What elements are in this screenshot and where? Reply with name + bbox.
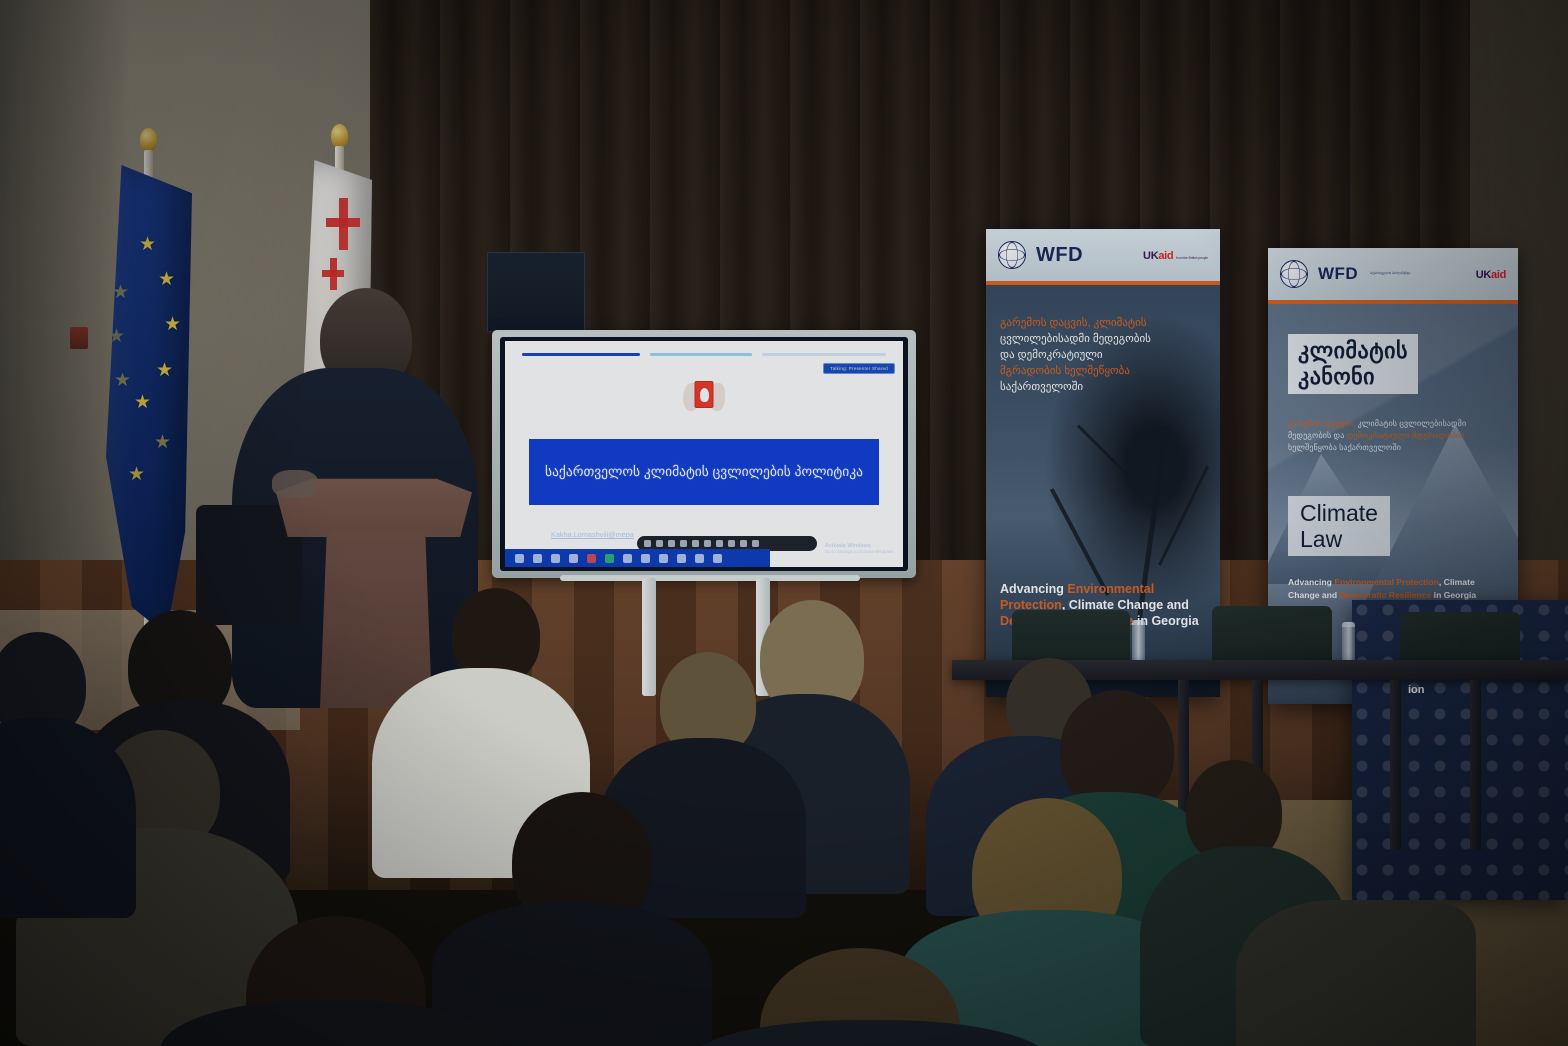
banner1-logo-strip: WFD UKaid from the British people: [986, 229, 1220, 281]
georgian-parliament-logo: საქართველოს პარლამენტი: [1368, 261, 1412, 287]
banner2-en-title-line2: Law: [1300, 526, 1378, 552]
banner2-geo-sub2a: მედეგობის და: [1288, 431, 1347, 440]
participants-icon[interactable]: [569, 554, 578, 563]
banner2-accent-rule: [1268, 300, 1518, 304]
banner1-en-advancing: Advancing: [1000, 582, 1067, 596]
table-leg-4: [1470, 680, 1481, 850]
stop-share-icon[interactable]: [740, 540, 747, 547]
settings-icon[interactable]: [728, 540, 735, 547]
save-icon[interactable]: [716, 540, 723, 547]
ai-companion-icon[interactable]: [659, 554, 668, 563]
stop-video-icon[interactable]: [533, 554, 542, 563]
parliament-caption: საქართველოს პარლამენტი: [1370, 271, 1410, 275]
podium-column: [320, 533, 432, 708]
banner2-logo-strip: WFD საქართველოს პარლამენტი UKaid: [1268, 248, 1518, 300]
georgia-coat-of-arms-icon: [1422, 262, 1442, 286]
banner2-geo-sub1a: გარემოს დაცვის,: [1288, 419, 1355, 428]
banner3-partial-text: ion: [1408, 684, 1425, 696]
banner1-geo-line1: გარემოს დაცვის, კლიმატის: [1000, 315, 1206, 331]
progress-segment-3: [762, 353, 886, 356]
wfd-globe-icon: [998, 241, 1026, 269]
banner1-georgian-headline: გარემოს დაცვის, კლიმატის ცვლილებისადმი მ…: [1000, 315, 1206, 395]
mute-icon[interactable]: [515, 554, 524, 563]
security-icon[interactable]: [551, 554, 560, 563]
pause-share-icon[interactable]: [623, 554, 632, 563]
banner2-en-advancing: Advancing: [1288, 577, 1334, 587]
flagpole-finial-eu: [140, 128, 157, 152]
more-icon[interactable]: [752, 540, 759, 547]
chat-icon[interactable]: [587, 554, 596, 563]
banner2-geo-title-line1: კლიმატის: [1298, 338, 1408, 364]
presenter-hand: [272, 470, 318, 498]
banner1-geo-line5: საქართველოში: [1000, 379, 1206, 395]
ukaid-logo: UKaid from the British people: [1143, 246, 1208, 264]
summary-icon[interactable]: [641, 554, 650, 563]
remote-control-icon[interactable]: [677, 554, 686, 563]
slide-speaker-name: კახა ლომაშვილი: [551, 509, 746, 520]
zoom-talking-badge: Talking: Presenter Shared: [823, 363, 895, 374]
share-screen-icon-taskbar[interactable]: [605, 554, 614, 563]
georgia-coat-of-arms-icon: [683, 377, 725, 421]
ukaid-uk: UK: [1476, 269, 1491, 281]
apps-icon[interactable]: [695, 554, 704, 563]
progress-segment-1: [522, 353, 640, 356]
more-icon-taskbar[interactable]: [713, 554, 722, 563]
banner1-accent-rule: [986, 281, 1220, 285]
zoom-meeting-taskbar[interactable]: [505, 549, 770, 567]
annotate-icon[interactable]: [656, 540, 663, 547]
flagpole-finial-georgia: [331, 124, 348, 148]
slide-content: Talking: Presenter Shared საქართველოს კლ…: [505, 341, 903, 567]
wfd-wordmark: WFD: [1036, 244, 1083, 267]
ukaid-wordmark: UKaid: [1476, 269, 1506, 281]
ukaid-aid: aid: [1158, 250, 1173, 262]
undo-icon[interactable]: [668, 540, 675, 547]
conference-photo: ★ ★ ★ ★ ★ ★ ★ ★ ★ ★: [0, 0, 1568, 1046]
slide-speaker-org: გარემოს დაცვისა და სოფლის მეურნეობის სამ…: [551, 520, 746, 531]
stage-speaker-box: [487, 252, 585, 332]
banner1-geo-line3: და დემოკრატიული: [1000, 347, 1206, 363]
banner2-en-dem-res: Democratic Resilience: [1340, 590, 1432, 600]
wfd-globe-icon: [1280, 260, 1308, 288]
ukaid-tagline: from the British people: [1176, 256, 1208, 260]
banner2-english-title: Climate Law: [1288, 496, 1390, 556]
banner2-en-in-georgia: in Georgia: [1431, 590, 1476, 600]
ukaid-logo: UKaid: [1476, 265, 1506, 283]
banner2-english-subtitle: Advancing Environmental Protection, Clim…: [1288, 576, 1502, 601]
banner1-geo-line2: ცვლილებისადმი მედეგობის: [1000, 331, 1206, 347]
banner2-en-title-line1: Climate: [1300, 500, 1378, 526]
ukaid-wordmark: UKaid: [1143, 250, 1176, 262]
windows-activation-watermark: Activate Windows Go to Settings to activ…: [825, 543, 893, 554]
share-screen-icon[interactable]: [644, 540, 651, 547]
banner1-en-and: and: [1163, 598, 1189, 612]
spotlight-icon[interactable]: [692, 540, 699, 547]
redo-icon[interactable]: [680, 540, 687, 547]
wfd-wordmark: WFD: [1318, 264, 1358, 284]
new-share-icon[interactable]: [704, 540, 711, 547]
banner2-geo-sub2b: დემოკრატიული მდგრადობის: [1347, 431, 1465, 440]
display-stand-crossbar: [560, 575, 860, 581]
banner2-georgian-title: კლიმატის კანონი: [1288, 334, 1418, 394]
windows-watermark-sub: Go to Settings to activate Windows: [825, 549, 893, 554]
slide-title-band: საქართველოს კლიმატის ცვლილების პოლიტიკა: [529, 439, 879, 505]
banner2-geo-sub1b: კლიმატის ცვლილებისადმი: [1355, 419, 1466, 428]
banner2-geo-sub3: ხელშეწყობა საქართველოში: [1288, 442, 1500, 454]
banner1-geo-line4: მგრადობის ხელშეწყობა: [1000, 363, 1206, 379]
table-leg-3: [1390, 680, 1401, 850]
banner2-geo-title-line2: კანონი: [1298, 364, 1408, 390]
display-stand-leg-left: [642, 578, 656, 696]
progress-segment-2: [650, 353, 752, 356]
ukaid-uk: UK: [1143, 250, 1158, 262]
fire-alarm-icon: [70, 327, 88, 349]
slide-title: საქართველოს კლიმატის ცვლილების პოლიტიკა: [529, 439, 879, 505]
ukaid-aid: aid: [1491, 269, 1506, 281]
banner2-en-env-prot: Environmental Protection: [1334, 577, 1439, 587]
banner2-georgian-subtitle: გარემოს დაცვის, კლიმატის ცვლილებისადმი მ…: [1288, 418, 1500, 454]
